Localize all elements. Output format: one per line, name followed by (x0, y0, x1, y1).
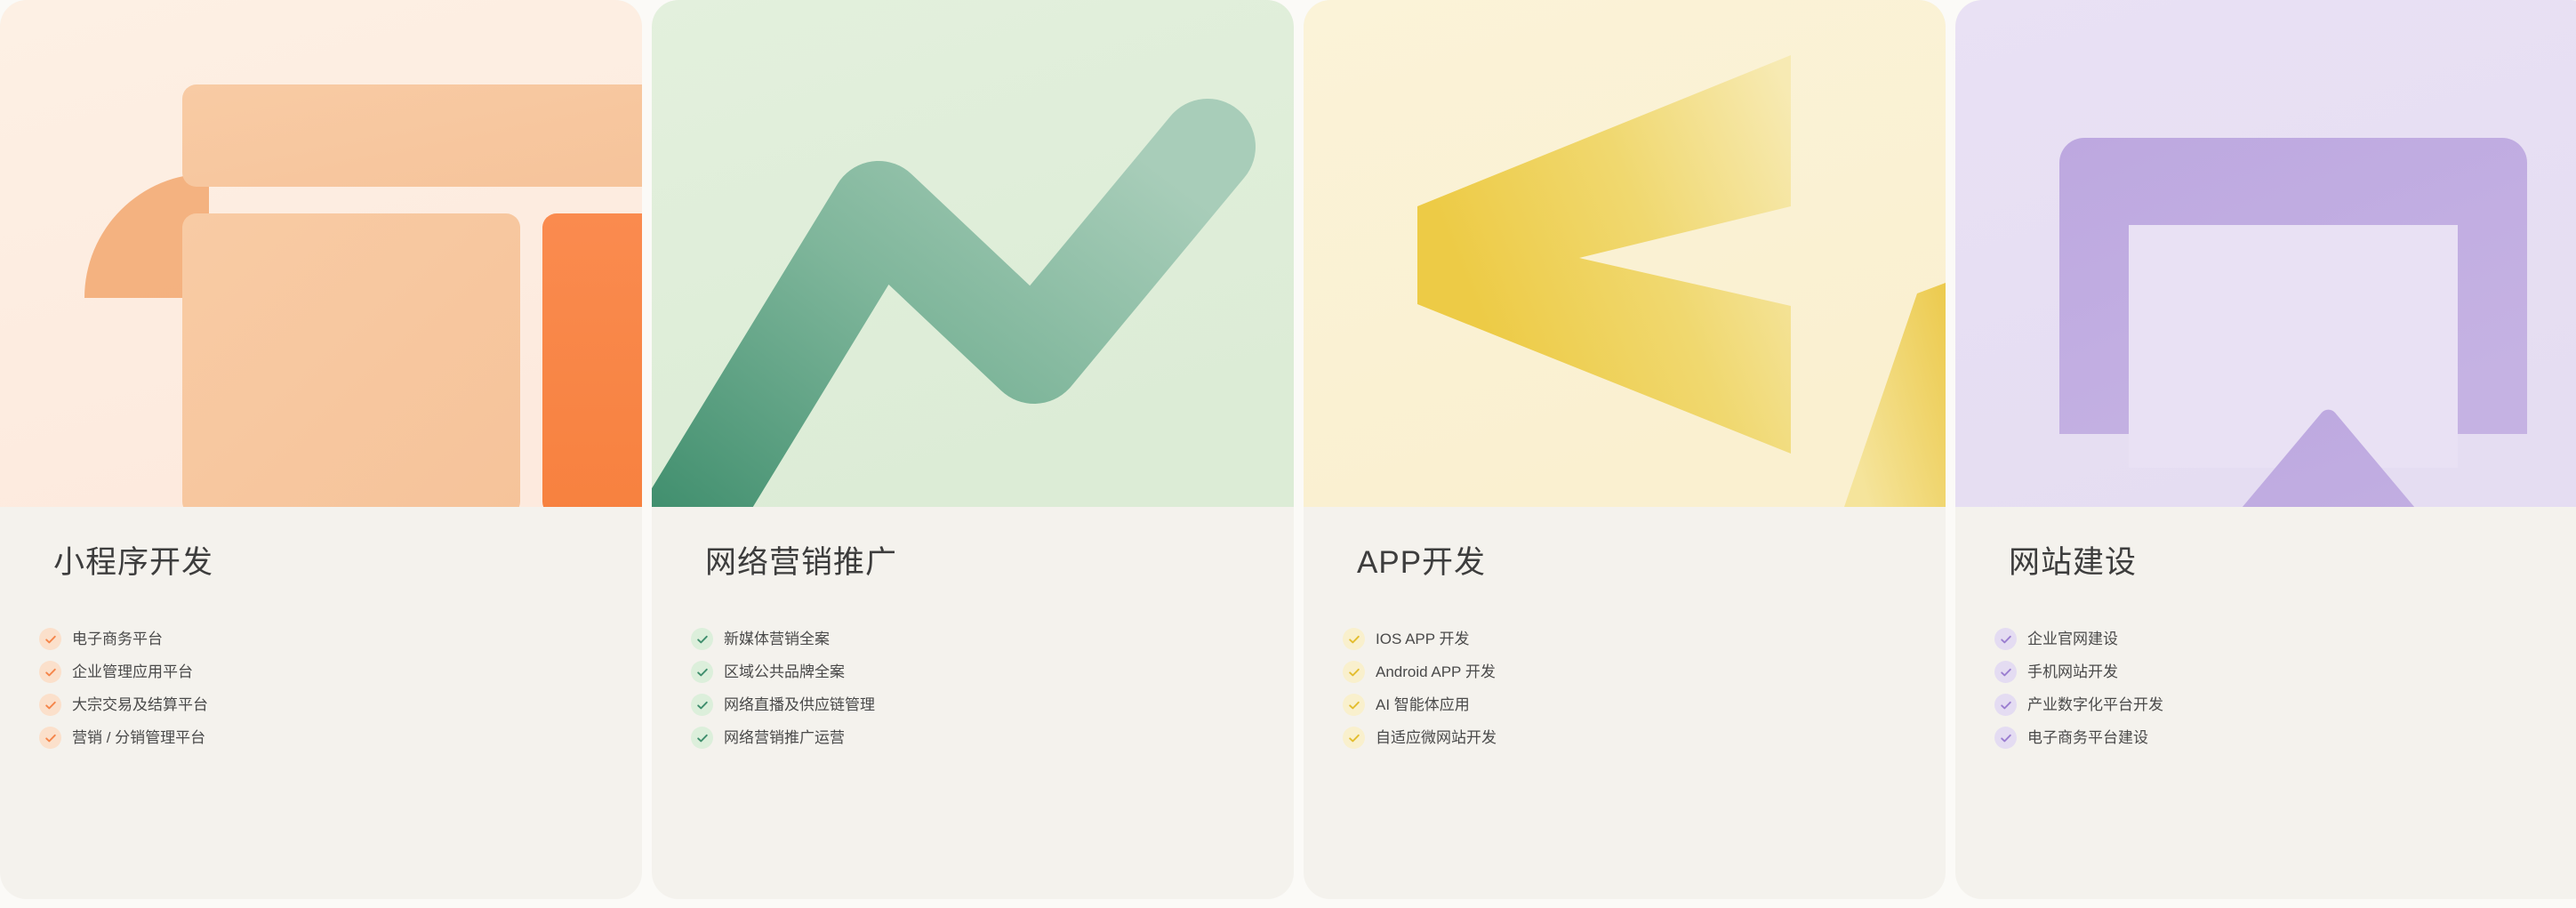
feature-label: 新媒体营销全案 (724, 631, 830, 647)
card-title: 小程序开发 (53, 545, 213, 581)
service-card-app-development[interactable]: APP开发 IOS APP 开发 Android APP 开发 (1304, 0, 1946, 899)
list-item[interactable]: 电子商务平台建设 (1955, 721, 2576, 754)
mini-program-layout-illustration (0, 0, 642, 507)
feature-label: 营销 / 分销管理平台 (72, 730, 205, 745)
service-card-website-construction[interactable]: 网站建设 企业官网建设 手机网站开发 (1955, 0, 2576, 899)
feature-list: IOS APP 开发 Android APP 开发 AI 智能体应用 (1304, 623, 1946, 754)
check-icon (1994, 661, 2017, 683)
service-card-online-marketing[interactable]: 网络营销推广 新媒体营销全案 区域公共品牌全案 (652, 0, 1294, 899)
list-item[interactable]: Android APP 开发 (1304, 655, 1946, 688)
card-body: 小程序开发 电子商务平台 企业管理应用平台 (0, 507, 642, 899)
feature-label: 手机网站开发 (2027, 664, 2118, 679)
list-item[interactable]: 自适应微网站开发 (1304, 721, 1946, 754)
feature-list: 新媒体营销全案 区域公共品牌全案 网络直播及供应链管理 (652, 623, 1294, 754)
feature-list: 电子商务平台 企业管理应用平台 大宗交易及结算平台 (0, 623, 642, 754)
card-title: 网站建设 (2009, 545, 2137, 581)
feature-label: 电子商务平台建设 (2027, 730, 2148, 745)
list-item[interactable]: 新媒体营销全案 (652, 623, 1294, 655)
service-card-mini-program[interactable]: 小程序开发 电子商务平台 企业管理应用平台 (0, 0, 642, 899)
check-icon (1994, 694, 2017, 716)
card-body: 网站建设 企业官网建设 手机网站开发 (1955, 507, 2576, 899)
code-chevron-illustration (1304, 0, 1946, 507)
list-item[interactable]: 营销 / 分销管理平台 (0, 721, 642, 754)
list-item[interactable]: 区域公共品牌全案 (652, 655, 1294, 688)
list-item[interactable]: 企业管理应用平台 (0, 655, 642, 688)
card-title: APP开发 (1357, 545, 1486, 581)
monitor-screen-illustration (1955, 0, 2576, 507)
feature-label: 企业官网建设 (2027, 631, 2118, 647)
card-body: 网络营销推广 新媒体营销全案 区域公共品牌全案 (652, 507, 1294, 899)
check-icon (1994, 628, 2017, 650)
feature-label: IOS APP 开发 (1376, 631, 1470, 647)
check-icon (39, 628, 61, 650)
feature-label: 自适应微网站开发 (1376, 730, 1497, 745)
check-icon (1343, 694, 1365, 716)
list-item[interactable]: 企业官网建设 (1955, 623, 2576, 655)
list-item[interactable]: 手机网站开发 (1955, 655, 2576, 688)
check-icon (1994, 727, 2017, 749)
list-item[interactable]: 网络营销推广运营 (652, 721, 1294, 754)
feature-label: 区域公共品牌全案 (724, 664, 845, 679)
feature-label: 产业数字化平台开发 (2027, 697, 2163, 712)
check-icon (691, 628, 713, 650)
list-item[interactable]: 产业数字化平台开发 (1955, 688, 2576, 721)
feature-label: Android APP 开发 (1376, 664, 1496, 679)
list-item[interactable]: IOS APP 开发 (1304, 623, 1946, 655)
feature-label: AI 智能体应用 (1376, 697, 1470, 712)
feature-list: 企业官网建设 手机网站开发 产业数字化平台开发 (1955, 623, 2576, 754)
feature-label: 电子商务平台 (72, 631, 163, 647)
feature-label: 企业管理应用平台 (72, 664, 193, 679)
check-icon (1343, 727, 1365, 749)
service-cards-board: 小程序开发 电子商务平台 企业管理应用平台 (0, 0, 2576, 908)
feature-label: 网络直播及供应链管理 (724, 697, 875, 712)
card-body: APP开发 IOS APP 开发 Android APP 开发 (1304, 507, 1946, 899)
list-item[interactable]: 电子商务平台 (0, 623, 642, 655)
list-item[interactable]: 网络直播及供应链管理 (652, 688, 1294, 721)
feature-label: 大宗交易及结算平台 (72, 697, 208, 712)
check-icon (1343, 661, 1365, 683)
feature-label: 网络营销推广运营 (724, 730, 845, 745)
list-item[interactable]: 大宗交易及结算平台 (0, 688, 642, 721)
list-item[interactable]: AI 智能体应用 (1304, 688, 1946, 721)
check-icon (39, 727, 61, 749)
check-icon (691, 661, 713, 683)
check-icon (691, 727, 713, 749)
check-icon (39, 694, 61, 716)
check-icon (691, 694, 713, 716)
check-icon (39, 661, 61, 683)
growth-trend-arrow-illustration (652, 0, 1294, 507)
check-icon (1343, 628, 1365, 650)
card-title: 网络营销推广 (705, 545, 897, 581)
